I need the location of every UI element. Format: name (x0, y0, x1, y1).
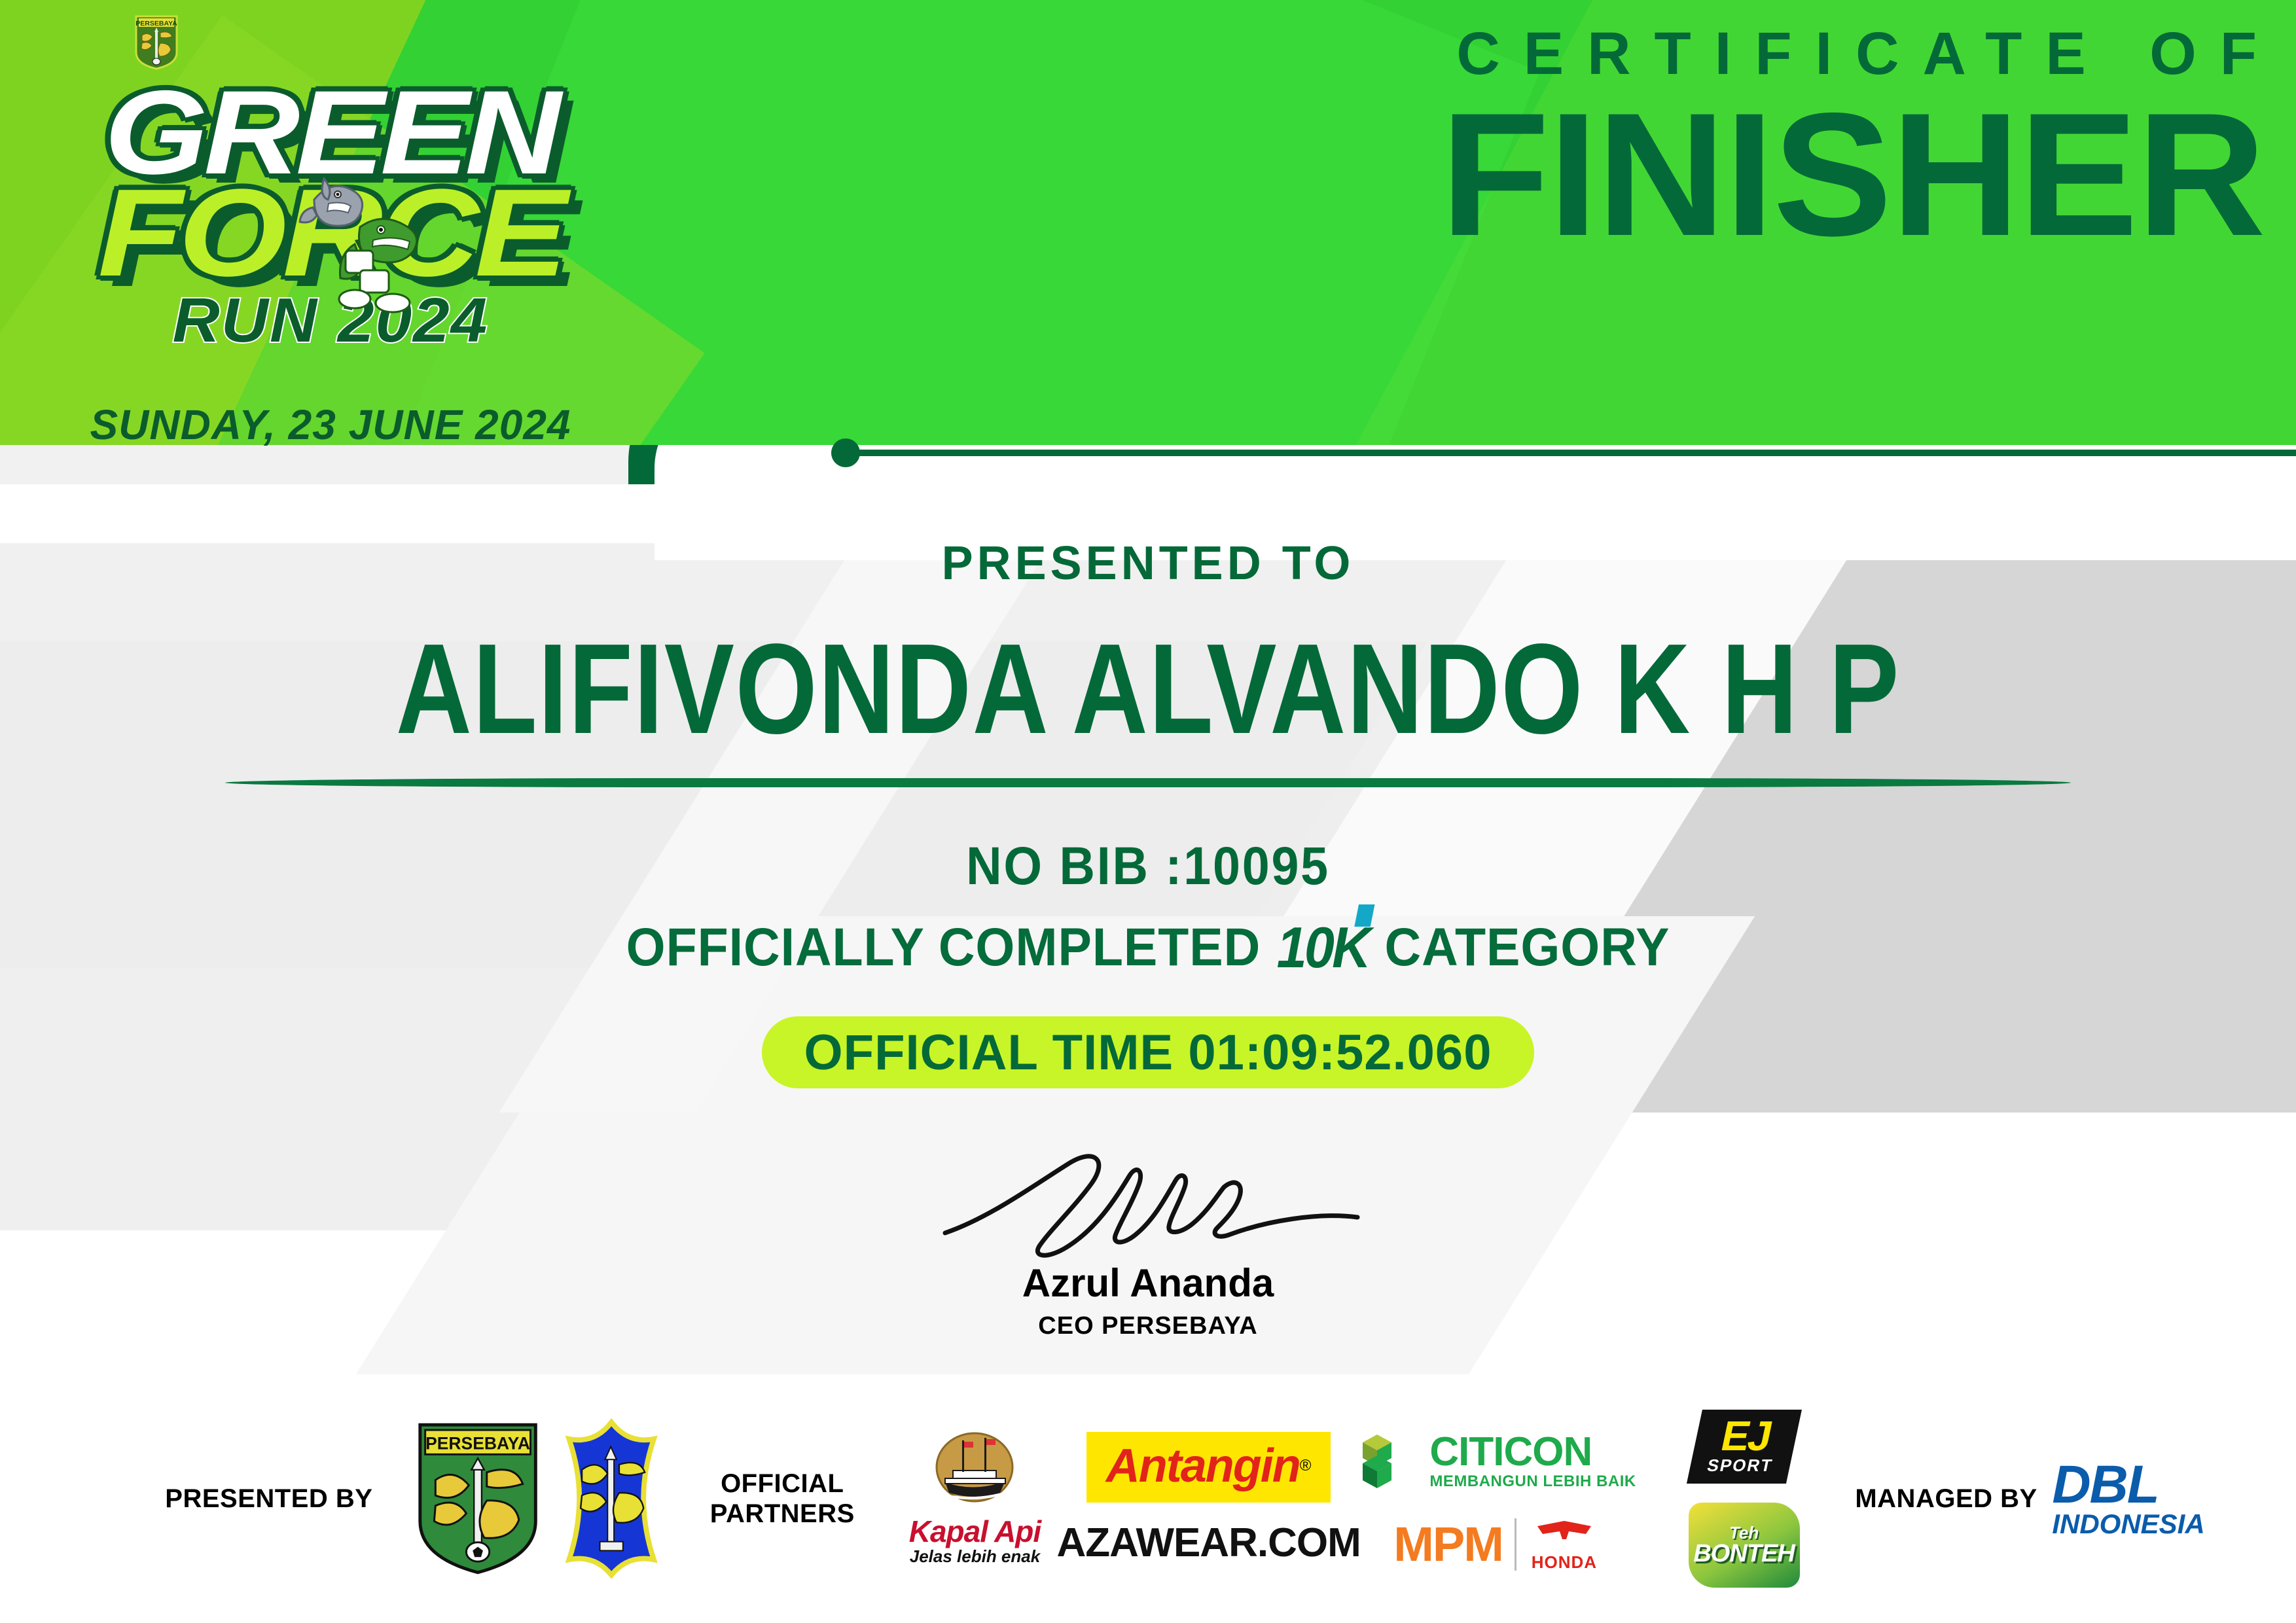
green-force-wordmark: GREEN FORCE RUN 2024 (36, 69, 625, 350)
citicon-wordmark: CITICON (1429, 1432, 1592, 1472)
svg-text:PERSEBAYA: PERSEBAYA (425, 1433, 530, 1453)
official-partners-line2: PARTNERS (686, 1499, 878, 1529)
official-partners-label: OFFICIAL PARTNERS (686, 1469, 878, 1529)
bonteh-name-word: BONTEH (1693, 1541, 1794, 1566)
certificate-page: PERSEBAYA GREEN FORCE (0, 0, 2296, 1623)
name-divider (225, 778, 2071, 787)
title-line-finisher: FINISHER (1441, 94, 2265, 255)
event-date: SUNDAY, 23 JUNE 2024 (0, 401, 661, 449)
azawear-wordmark: AZAWEAR.COM (1056, 1520, 1360, 1566)
distance-number: 10 (1277, 915, 1332, 980)
event-logo-block: PERSEBAYA GREEN FORCE (0, 0, 661, 497)
kapal-api-ship-icon (925, 1431, 1024, 1516)
bib-number: 10095 (1183, 836, 1330, 896)
honda-wordmark: HONDA (1532, 1552, 1597, 1573)
kapal-api-wordmark: Kapal Api (909, 1516, 1041, 1546)
mpm-wordmark: MPM (1393, 1520, 1503, 1569)
mascot-shark-crocodile-icon (295, 167, 432, 317)
distance-badge: 10K (1277, 919, 1369, 976)
sponsor-footer: PRESENTED BY PERSEBAYA O (0, 1374, 2296, 1623)
mpm-divider (1515, 1518, 1516, 1571)
dbl-country-wordmark: INDONESIA (2052, 1510, 2204, 1538)
antangin-logo: Antangin® (1086, 1432, 1331, 1503)
antangin-wordmark: Antangin (1106, 1442, 1300, 1489)
presented-by-label: PRESENTED BY (131, 1484, 407, 1514)
bib-line: NO BIB :10095 (92, 836, 2204, 897)
sponsor-kapal-api: Kapal Api Jelas lebih enak (878, 1431, 1071, 1567)
bib-label: NO BIB : (966, 836, 1183, 896)
sponsor-citicon-mpm: CITICON MEMBANGUN LEBIH BAIK MPM HONDA (1346, 1425, 1648, 1573)
distance-tick-icon (1354, 904, 1374, 927)
signer-name: Azrul Ananda (0, 1260, 2296, 1306)
sponsor-dbl-indonesia: DBL INDONESIA (2052, 1459, 2296, 1538)
persebaya-crest-icon: PERSEBAYA (134, 14, 179, 71)
signature-icon (899, 1147, 1397, 1264)
citicon-blocks-icon (1357, 1425, 1420, 1497)
decorative-rule (856, 450, 2296, 456)
presented-to-label: PRESENTED TO (0, 537, 2296, 590)
honda-logo: HONDA (1528, 1517, 1600, 1573)
dbl-wordmark: DBL (2052, 1459, 2159, 1510)
managed-by-label: MANAGED BY (1840, 1484, 2053, 1514)
recipient-name: ALIFIVONDA ALVANDO K H P (207, 615, 2090, 762)
decorative-dot-rule (831, 438, 2296, 467)
completed-suffix: CATEGORY (1385, 917, 1670, 978)
sponsor-persebaya-icon: PERSEBAYA (414, 1417, 542, 1580)
ej-sport-logo: EJ SPORT (1687, 1410, 1802, 1484)
bonteh-teh-word: Teh (1729, 1524, 1759, 1541)
official-time-badge: OFFICIAL TIME 01:09:52.060 (762, 1016, 1534, 1088)
teh-bonteh-logo: Teh BONTEH (1689, 1503, 1800, 1588)
sponsor-surabaya-crest-icon (551, 1417, 673, 1580)
sponsor-ej-bonteh: EJ SPORT Teh BONTEH (1648, 1410, 1840, 1588)
category-line: OFFICIALLY COMPLETED 10K CATEGORY (69, 917, 2227, 978)
signer-role: CEO PERSEBAYA (0, 1312, 2296, 1340)
ej-wordmark: EJ (1718, 1418, 1775, 1455)
official-partners-line1: OFFICIAL (686, 1469, 878, 1499)
antangin-registered-icon: ® (1300, 1457, 1312, 1475)
mpm-honda-logo: MPM HONDA (1393, 1517, 1600, 1573)
honda-wing-icon (1528, 1517, 1600, 1552)
citicon-tagline: MEMBANGUN LEBIH BAIK (1429, 1472, 1636, 1491)
sponsor-antangin-azawear: Antangin® AZAWEAR.COM (1071, 1432, 1346, 1566)
ej-sport-subtext: SPORT (1705, 1455, 1774, 1475)
kapal-api-tagline: Jelas lebih enak (910, 1546, 1040, 1567)
svg-text:PERSEBAYA: PERSEBAYA (135, 20, 177, 27)
signature-block: Azrul Ananda CEO PERSEBAYA (0, 1147, 2296, 1340)
certificate-title: CERTIFICATE OF FINISHER (1448, 20, 2257, 255)
completed-prefix: OFFICIALLY COMPLETED (626, 917, 1261, 978)
citicon-logo: CITICON MEMBANGUN LEBIH BAIK (1357, 1425, 1636, 1497)
